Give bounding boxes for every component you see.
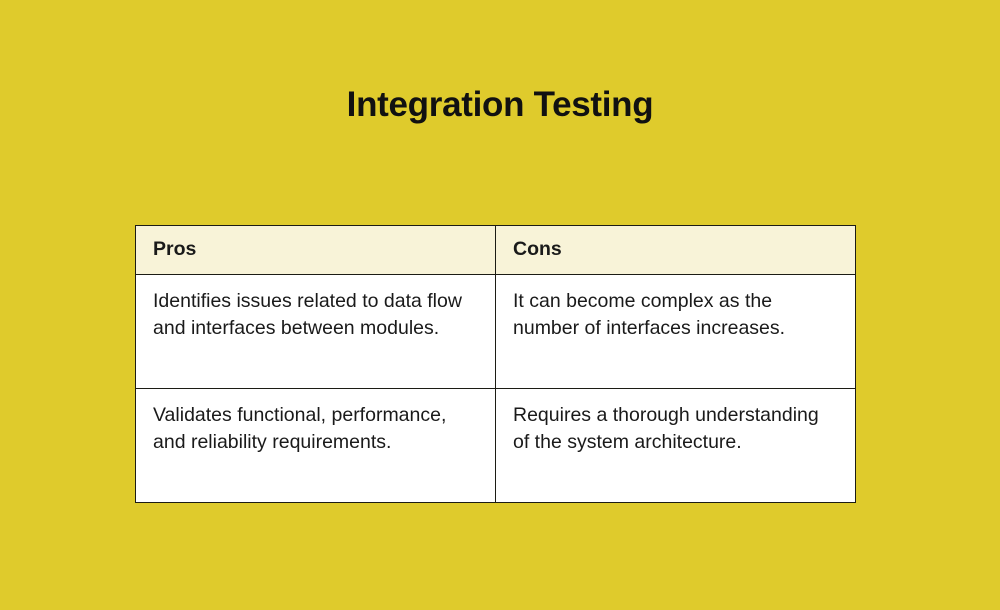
- cell-cons-2: Requires a thorough understanding of the…: [496, 389, 856, 503]
- table-body: Identifies issues related to data flow a…: [136, 275, 856, 503]
- cell-pros-2: Validates functional, performance, and r…: [136, 389, 496, 503]
- table-header-row: Pros Cons: [136, 226, 856, 275]
- column-header-cons: Cons: [496, 226, 856, 275]
- slide-canvas: Integration Testing Pros Cons Identifies…: [0, 0, 1000, 610]
- page-title: Integration Testing: [0, 83, 1000, 127]
- pros-cons-table-container: Pros Cons Identifies issues related to d…: [135, 225, 855, 503]
- table-row: Validates functional, performance, and r…: [136, 389, 856, 503]
- pros-cons-table: Pros Cons Identifies issues related to d…: [135, 225, 856, 503]
- table-row: Identifies issues related to data flow a…: [136, 275, 856, 389]
- table-header: Pros Cons: [136, 226, 856, 275]
- cell-pros-1: Identifies issues related to data flow a…: [136, 275, 496, 389]
- cell-cons-1: It can become complex as the number of i…: [496, 275, 856, 389]
- column-header-pros: Pros: [136, 226, 496, 275]
